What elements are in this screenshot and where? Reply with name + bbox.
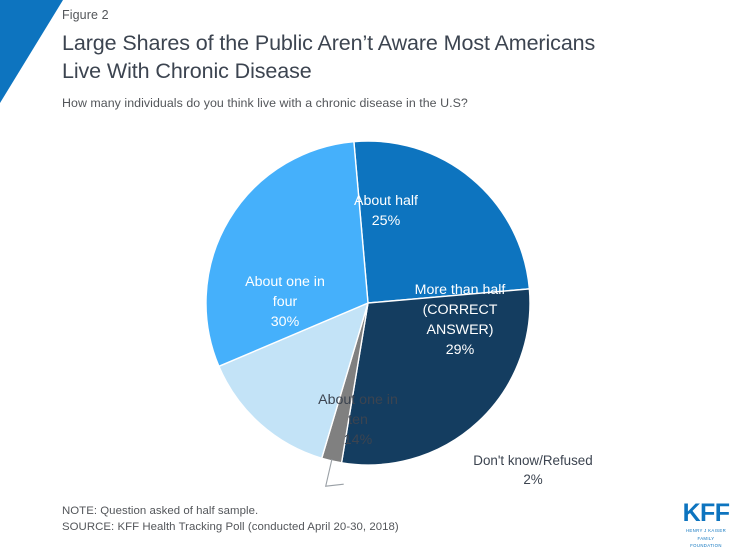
pie-label-line: 2%: [523, 472, 542, 487]
corner-wedge-decoration: [0, 0, 70, 105]
footer-note: NOTE: Question asked of half sample.: [62, 503, 622, 519]
footer-source: SOURCE: KFF Health Tracking Poll (conduc…: [62, 519, 622, 535]
page-title-line-2: Live With Chronic Disease: [62, 59, 312, 83]
figure-label: Figure 2: [62, 8, 702, 23]
pie-slice[interactable]: [342, 289, 530, 465]
footer-block: NOTE: Question asked of half sample. SOU…: [62, 503, 622, 535]
kff-logo-wordmark: KFF: [681, 501, 731, 526]
header-block: Figure 2 Large Shares of the Public Aren…: [62, 8, 702, 111]
infographic-canvas: Figure 2 Large Shares of the Public Aren…: [0, 0, 735, 551]
pie-label-line: Don't know/Refused: [473, 453, 592, 468]
kff-logo-subtitle-line-1: HENRY J KAISER: [681, 528, 731, 534]
pie-slice[interactable]: [354, 141, 530, 303]
page-title-line-1: Large Shares of the Public Aren’t Aware …: [62, 31, 595, 55]
page-title: Large Shares of the Public Aren’t Aware …: [62, 30, 702, 86]
kff-logo: KFF HENRY J KAISER FAMILY FOUNDATION: [681, 501, 731, 549]
kff-logo-subtitle-line-2: FAMILY FOUNDATION: [681, 536, 731, 549]
pie-callout-label: Don't know/Refused2%: [473, 453, 592, 487]
chart-subtitle: How many individuals do you think live w…: [62, 95, 702, 111]
pie-slices-group: [206, 141, 530, 465]
